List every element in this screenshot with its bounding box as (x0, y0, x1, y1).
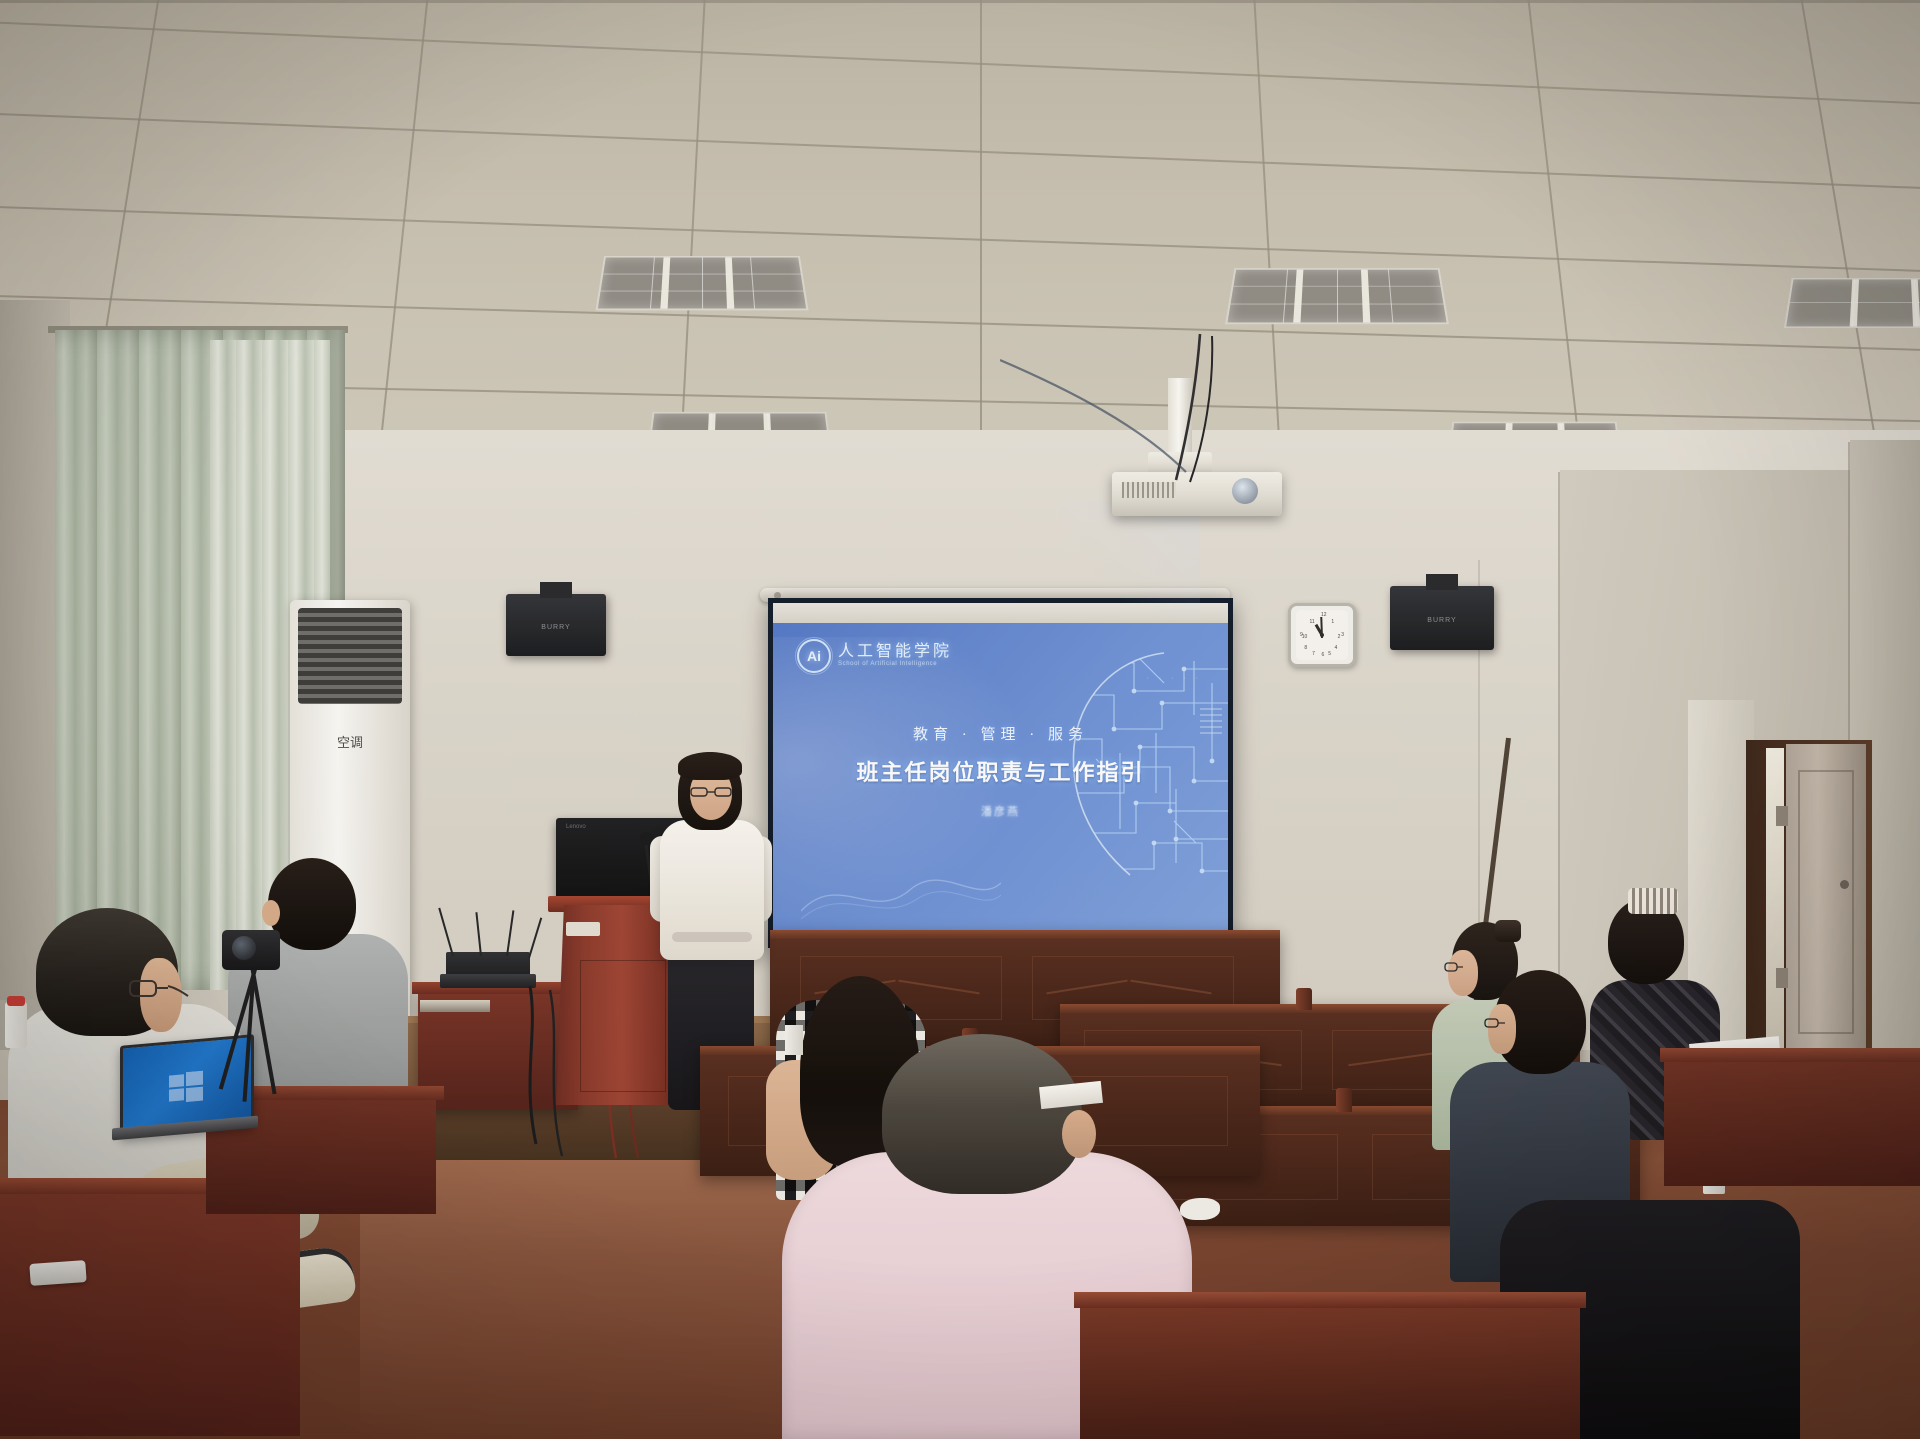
desk (0, 1186, 300, 1436)
air-conditioner-vent (298, 608, 402, 704)
slide-decor-dots: · · · · · (1147, 675, 1202, 682)
ceiling-light (1784, 278, 1920, 328)
podium-front-panel (580, 960, 666, 1092)
paper-cup (785, 1025, 803, 1055)
wall-clock: 12 3 6 9 1 2 4 5 7 8 10 11 (1288, 603, 1356, 667)
door-hinge-icon (1776, 806, 1788, 826)
slide-wave-graphic (801, 865, 1001, 925)
audience-ear (1062, 1110, 1096, 1158)
audience-face (1488, 1004, 1516, 1054)
speaker-brand-label: BURRY (1390, 617, 1494, 624)
glasses-icon (128, 978, 192, 1000)
windows-logo-icon (169, 1071, 203, 1104)
podium-label-plate (566, 922, 600, 936)
air-conditioner-label: 空调 (318, 726, 382, 760)
projection-screen: Ai 人工智能学院 School of Artificial Intellige… (773, 603, 1228, 943)
ceiling-light (595, 256, 808, 310)
tissue (1180, 1198, 1220, 1220)
bench-top (1074, 1292, 1586, 1308)
hair-clip-icon (1495, 920, 1521, 942)
bottle-cap (7, 996, 25, 1006)
projection-screen-frame: Ai 人工智能学院 School of Artificial Intellige… (768, 598, 1233, 948)
audience-head (882, 1034, 1082, 1194)
door-knob-icon[interactable] (1840, 880, 1849, 889)
logo-text-en: School of Artificial Intelligence (838, 661, 952, 667)
wall-speaker-right: BURRY (1390, 586, 1494, 650)
audience-face (1448, 950, 1478, 996)
desk (1664, 1056, 1920, 1186)
slide-title: 班主任岗位职责与工作指引 (773, 755, 1228, 787)
door-gap-light (1766, 748, 1784, 1048)
water-bottle (5, 1002, 27, 1048)
wall-speaker-left: BURRY (506, 594, 606, 656)
glasses-icon (690, 786, 732, 797)
camera-lens-icon (232, 936, 256, 960)
desk-top (1660, 1048, 1920, 1062)
door-hinge-icon (1776, 968, 1788, 988)
logo-text-cn: 人工智能学院 (838, 644, 952, 661)
glasses-icon (1444, 962, 1474, 972)
door-panel (1798, 770, 1854, 1034)
ai-logo-icon: Ai (797, 639, 831, 673)
clock-face: 12 3 6 9 1 2 4 5 7 8 10 11 (1296, 610, 1348, 660)
presenter (0, 0, 1, 1)
presenter-waist-tie (672, 932, 752, 942)
classroom-presentation-photo: 空调 (0, 0, 1920, 1439)
slide-logo: Ai 人工智能学院 School of Artificial Intellige… (797, 639, 952, 673)
audience-ear (262, 900, 280, 926)
ceiling-cables (1000, 330, 1320, 560)
presenter-hair-front (678, 752, 742, 780)
audience-head (268, 858, 356, 950)
smartphone[interactable] (29, 1260, 86, 1286)
slide-presenter-name: 潘彦燕 (773, 803, 1228, 819)
ceiling-light (1225, 268, 1449, 324)
hair-claw-clip-icon (1628, 888, 1678, 914)
glasses-icon (1484, 1018, 1514, 1028)
slide-subtitle: 教育 · 管理 · 服务 (773, 723, 1228, 744)
monitor-brand-label: Lenovo (566, 824, 626, 834)
bench-row-foreground (1080, 1300, 1580, 1439)
speaker-brand-label: BURRY (506, 624, 606, 631)
